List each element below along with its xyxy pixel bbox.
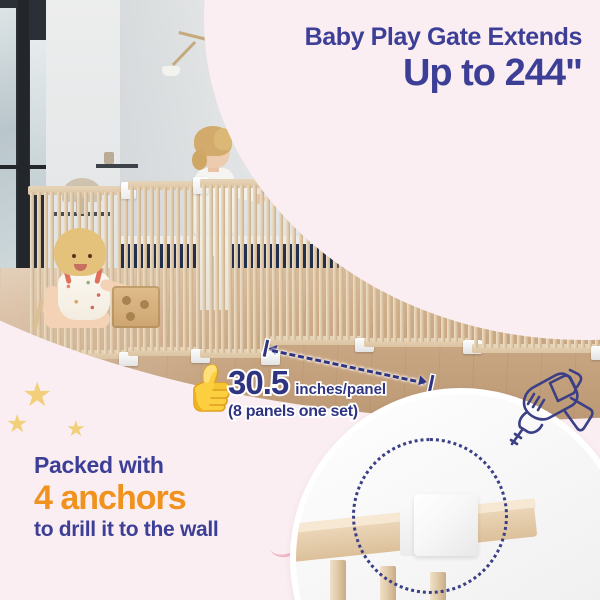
- woman-ponytail: [192, 150, 207, 170]
- dimension-arrowhead-right: [418, 375, 428, 386]
- gate-slat: [260, 185, 264, 353]
- door-mullion: [18, 0, 29, 300]
- wooden-activity-cube: [112, 286, 160, 328]
- dotted-highlight-circle: [352, 438, 508, 594]
- anchors-noun: anchors: [60, 479, 185, 517]
- panel-size-value: 30.5: [228, 364, 288, 402]
- gate-slat: [110, 192, 114, 354]
- star-icon: ★: [22, 378, 52, 412]
- side-table: [96, 164, 138, 168]
- gate-slat: [266, 185, 270, 353]
- gate-slat: [183, 187, 187, 351]
- inset-gate-bar-1: [330, 560, 346, 600]
- headline-line-1: Baby Play Gate Extends: [305, 24, 582, 52]
- gate-slat: [57, 192, 61, 354]
- gate-slat: [30, 192, 34, 354]
- table-decor-object: [104, 152, 114, 164]
- packed-line-3: to drill it to the wall: [34, 518, 218, 542]
- toy-hole-3: [126, 312, 135, 321]
- gate-slat: [202, 185, 206, 353]
- gate-slat: [209, 185, 213, 353]
- gate-slat: [189, 187, 193, 351]
- star-icon: ★: [6, 412, 28, 437]
- wall-sconce-head: [162, 66, 180, 76]
- packed-line-1: Packed with: [34, 452, 218, 479]
- gate-slat: [163, 187, 167, 351]
- product-marketing-image: Baby Play Gate Extends Up to 244" ★ ★ ★: [0, 0, 600, 600]
- door-rail: [0, 165, 46, 169]
- headline-line-2: Up to 244": [305, 54, 582, 94]
- gate-slat: [124, 192, 128, 354]
- gate-slat: [253, 185, 257, 353]
- baby-eye-right: [88, 254, 92, 258]
- headline-block: Baby Play Gate Extends Up to 244": [305, 24, 582, 93]
- thumbs-up-icon: [186, 362, 232, 424]
- gate-slat: [247, 185, 251, 353]
- gate-slat: [176, 187, 180, 351]
- power-drill-icon: [498, 362, 594, 448]
- gate-slat: [215, 185, 219, 353]
- gate-slat: [170, 187, 174, 351]
- gate-slat: [240, 185, 244, 353]
- gate-slat: [50, 192, 54, 354]
- door-glass-pane: [0, 8, 16, 278]
- gate-slat: [117, 192, 121, 354]
- gate-slat: [221, 185, 225, 353]
- toy-hole-1: [122, 296, 131, 305]
- gate-slat: [272, 190, 276, 340]
- toy-hole-2: [140, 300, 149, 309]
- gate-slat: [37, 192, 41, 354]
- gate-slat: [234, 185, 238, 353]
- baby-eye-left: [72, 254, 76, 258]
- anchors-block: Packed with 4 anchors to drill it to the…: [34, 452, 218, 542]
- gate-floor-foot: [591, 346, 600, 360]
- gate-slat: [228, 185, 232, 353]
- gate-slat: [44, 192, 48, 354]
- anchors-headline: 4 anchors: [34, 479, 218, 518]
- star-icon: ★: [66, 418, 86, 440]
- anchors-count: 4: [34, 479, 52, 517]
- gate-slat: [196, 187, 200, 351]
